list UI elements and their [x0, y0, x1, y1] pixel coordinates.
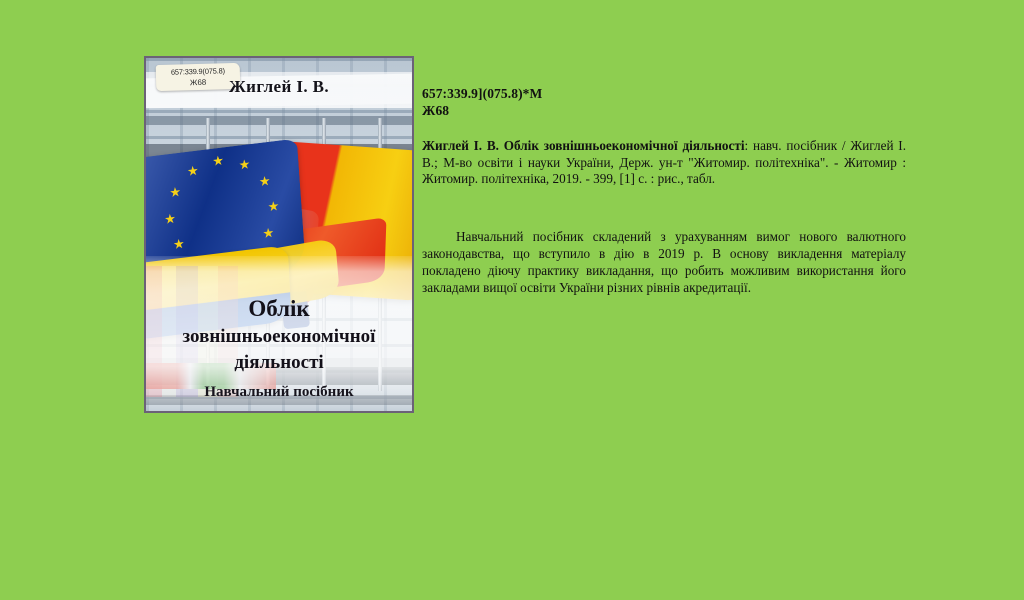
annotation-text: Навчальний посібник складений з урахуван…: [422, 228, 906, 297]
facade-beam: [146, 116, 412, 125]
catalog-record: 657:339.9](075.8)*М Ж68 Жиглей І. В. Обл…: [422, 86, 906, 297]
book-cover: ★ ★ ★ ★ ★ ★ ★ ★ ★ ★ ★ ★ 657:339.9(075.8)…: [144, 56, 414, 413]
call-number-block: 657:339.9](075.8)*М Ж68: [422, 86, 906, 119]
cover-title-line-3: діяльності: [156, 350, 402, 376]
call-number-line-2: Ж68: [422, 103, 906, 120]
call-number-line-1: 657:339.9](075.8)*М: [422, 86, 906, 103]
bibliographic-citation: Жиглей І. В. Облік зовнішньоекономічної …: [422, 138, 906, 188]
cover-title: Облік зовнішньоекономічної діяльності: [156, 294, 402, 376]
citation-author-title: Жиглей І. В. Облік зовнішньоекономічної …: [422, 138, 745, 153]
cover-subtitle: Навчальний посібник: [156, 384, 402, 401]
cover-title-line-2: зовнішньоекономічної: [156, 324, 402, 350]
cover-title-line-1: Облік: [156, 294, 402, 324]
cover-author: Жиглей І. В.: [146, 77, 412, 97]
